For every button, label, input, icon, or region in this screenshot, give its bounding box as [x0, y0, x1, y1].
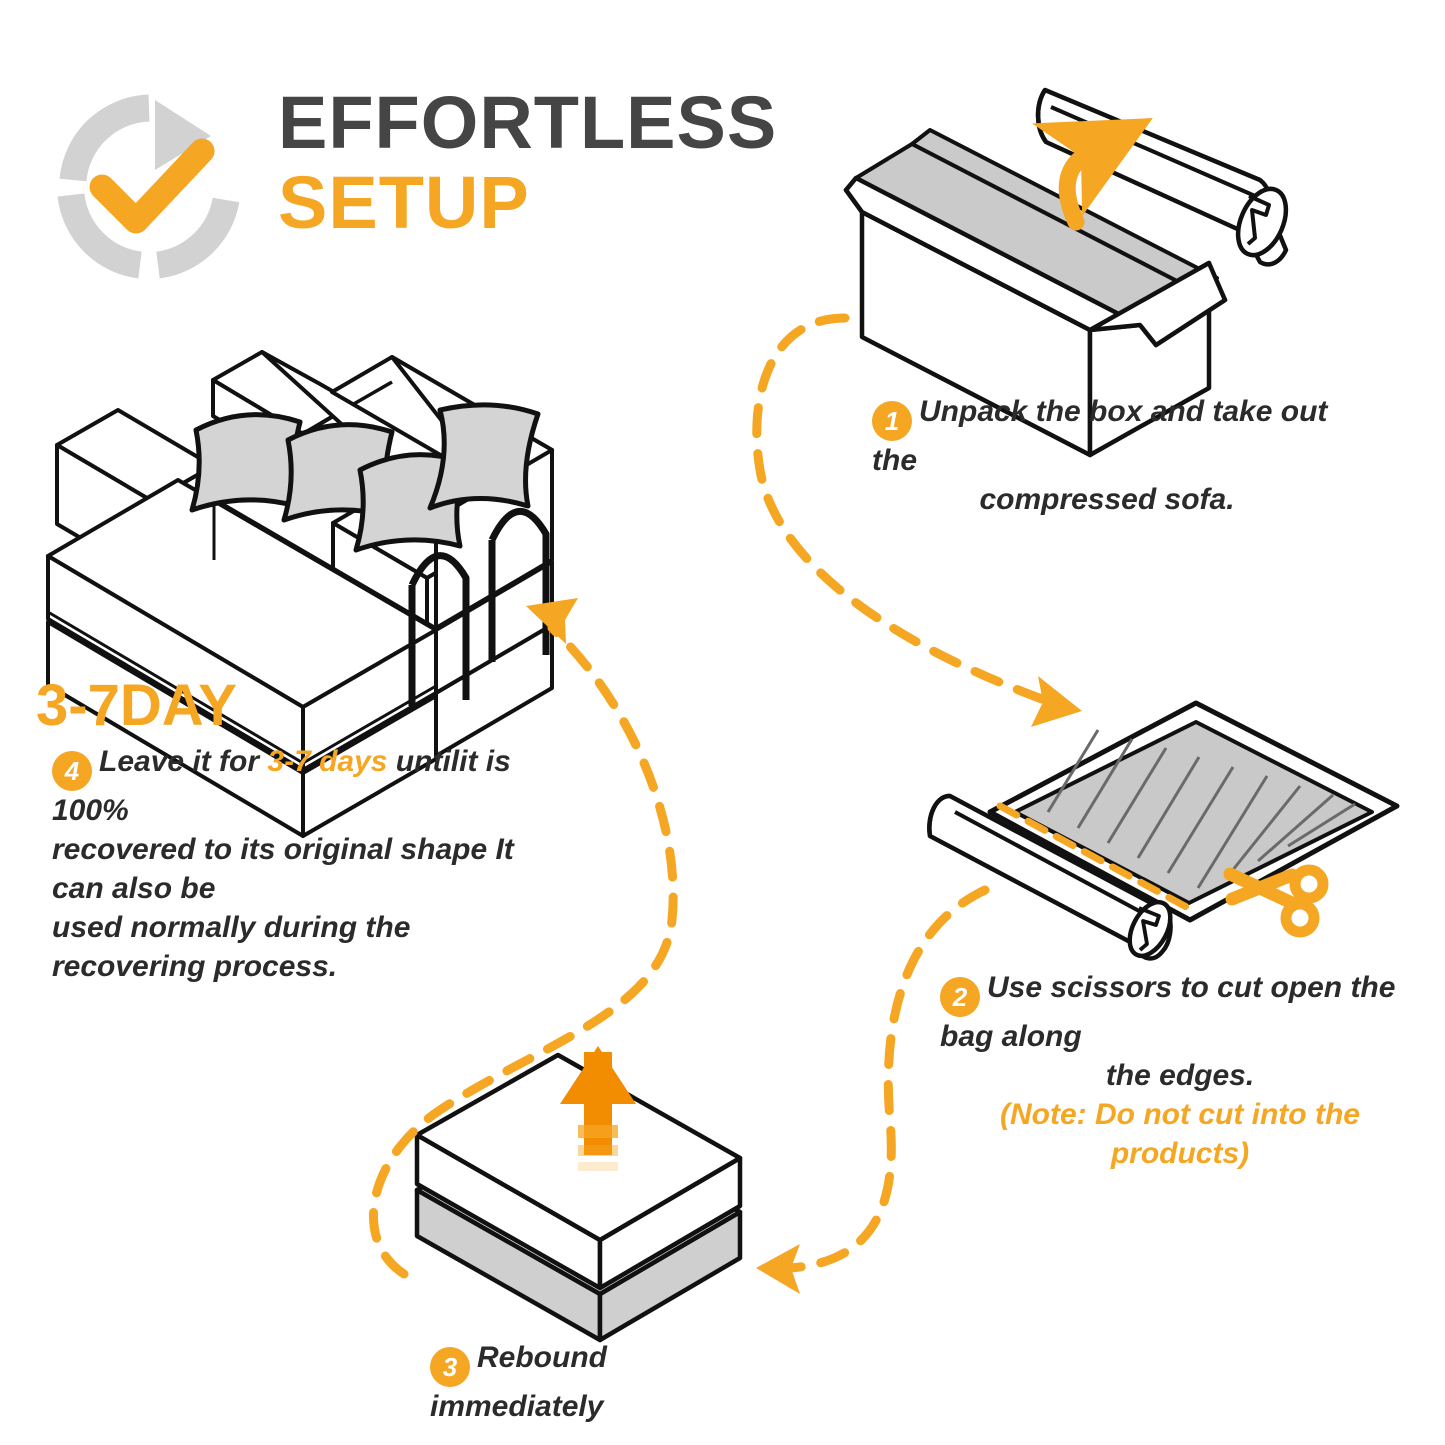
- step-2-line-1: Use scissors to cut open the bag along: [940, 971, 1395, 1053]
- step-3-badge: 3: [430, 1347, 470, 1387]
- step-4-text-part-1: Leave it for: [99, 745, 267, 778]
- step-3-text: 3Rebound immediately: [430, 1338, 760, 1426]
- step-1-line-1: Unpack the box and take out the: [872, 395, 1327, 477]
- title-line-1: EFFORTLESS: [278, 88, 777, 158]
- refresh-check-icon: [54, 92, 244, 282]
- step-1-line-2: compressed sofa.: [872, 480, 1342, 519]
- step-1-badge: 1: [872, 401, 912, 441]
- title-line-2: SETUP: [278, 166, 777, 240]
- header: EFFORTLESS SETUP: [40, 80, 780, 290]
- illustration-compressed-roll: [1038, 90, 1295, 264]
- step-4-text: 4Leave it for 3-7 days untilit is 100% r…: [52, 742, 552, 986]
- step-4-badge: 4: [52, 751, 92, 791]
- step-1-text: 1Unpack the box and take out the compres…: [872, 392, 1342, 519]
- step-2-note: (Note: Do not cut into the products): [940, 1095, 1420, 1173]
- step-2-badge: 2: [940, 977, 980, 1017]
- step-2-text: 2Use scissors to cut open the bag along …: [940, 968, 1420, 1173]
- days-label: 3-7DAY: [36, 672, 237, 739]
- arrowhead-to-step3: [756, 1244, 800, 1294]
- step-4-line-2: recovered to its original shape It can a…: [52, 830, 552, 908]
- step-4-line-3: used normally during the recovering proc…: [52, 908, 552, 986]
- illustration-foam-cushion: [417, 1046, 740, 1340]
- arrowhead-to-step4: [526, 598, 578, 644]
- illustration-vacuum-bag: [929, 703, 1397, 963]
- page-title: EFFORTLESS SETUP: [278, 88, 777, 240]
- step-2-line-2: the edges.: [940, 1056, 1420, 1095]
- arrowhead-to-step2: [1031, 676, 1082, 727]
- infographic-canvas: EFFORTLESS SETUP: [0, 0, 1445, 1445]
- step-4-highlight: 3-7 days: [267, 745, 387, 778]
